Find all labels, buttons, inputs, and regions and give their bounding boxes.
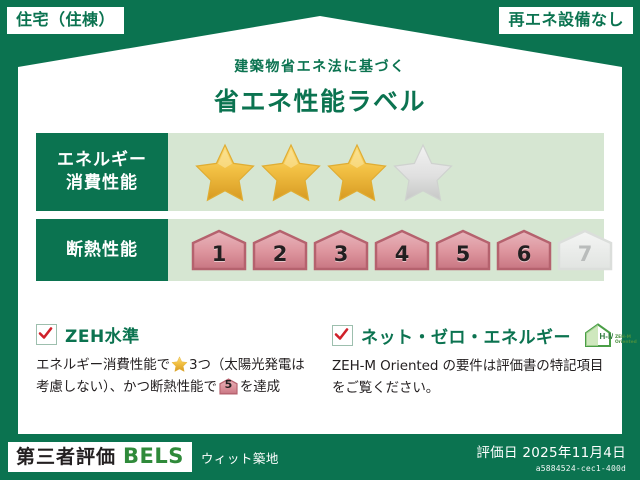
- note-header: ネット・ゼロ・エネルギー H-M ZEH-M Oriented: [332, 322, 604, 348]
- star-icon-filled-3: [326, 142, 388, 202]
- note-text-part1: エネルギー消費性能で: [36, 357, 170, 373]
- evaluation-date-value: 2025年11月4日: [522, 445, 626, 461]
- grade-badge-7: 7: [556, 228, 614, 272]
- energy-performance-row: エネルギー 消費性能: [36, 133, 604, 211]
- check-icon: [334, 327, 349, 342]
- page-title: 省エネ性能ラベル: [0, 82, 640, 118]
- grade-number: 7: [578, 242, 593, 272]
- note-body: エネルギー消費性能で3つ（太陽光発電は考慮しない）、かつ断熱性能で5を達成: [36, 355, 308, 399]
- third-party-eval-label: 第三者評価: [16, 448, 116, 467]
- zeh-logo-subtext: ZEH-M Oriented: [615, 335, 637, 348]
- grade-number: 5: [219, 376, 238, 394]
- grade-number: 4: [395, 242, 410, 272]
- note-body: ZEH-M Oriented の要件は評価書の特記項目をご覧ください。: [332, 356, 604, 400]
- note-title: ネット・ゼロ・エネルギー: [361, 323, 571, 348]
- energy-label-line2: 消費性能: [66, 172, 138, 195]
- builder-name: ウィット築地: [201, 448, 279, 467]
- evaluation-date-line: 評価日 2025年11月4日: [476, 441, 626, 461]
- energy-performance-label-box: エネルギー 消費性能: [36, 133, 168, 211]
- insulation-performance-label-box: 断熱性能: [36, 219, 168, 281]
- evaluation-date-label: 評価日: [476, 445, 517, 461]
- insulation-performance-row: 断熱性能 1: [36, 219, 604, 281]
- grade-number: 6: [517, 242, 532, 272]
- label-subtitle: 建築物省エネ法に基づく: [0, 56, 640, 76]
- checkbox-checked-icon: [332, 325, 353, 346]
- note-header: ZEH水準: [36, 322, 308, 347]
- building-type-tag: 住宅（住棟）: [7, 7, 124, 34]
- grade-number: 1: [212, 242, 227, 272]
- bels-badge: 第三者評価 BELS: [8, 442, 192, 472]
- grade-number: 5: [456, 242, 471, 272]
- energy-performance-label: 住宅（住棟） 再エネ設備なし 建築物省エネ法に基づく 省エネ性能ラベル エネルギ…: [0, 0, 640, 480]
- grade-badge-6: 6: [495, 228, 553, 272]
- note-zeh-standard: ZEH水準 エネルギー消費性能で3つ（太陽光発電は考慮しない）、かつ断熱性能で5…: [36, 322, 308, 400]
- star-rating: [194, 142, 454, 202]
- star-icon-empty-4: [392, 142, 454, 202]
- insulation-grade-scale: 1 2 3: [190, 228, 614, 272]
- note-text-part3: を達成: [240, 379, 280, 395]
- energy-performance-value: [168, 133, 604, 211]
- footer-bar: 第三者評価 BELS ウィット築地 評価日 2025年11月4日 a588452…: [0, 434, 640, 480]
- insulation-performance-value: 1 2 3: [168, 219, 614, 281]
- evaluation-id: a5884524-cec1-400d: [476, 464, 626, 473]
- grade-badge-3: 3: [312, 228, 370, 272]
- note-title: ZEH水準: [65, 322, 140, 347]
- star-icon-inline: [171, 356, 188, 372]
- evaluation-info: 評価日 2025年11月4日 a5884524-cec1-400d: [476, 441, 626, 473]
- grade-badge-1: 1: [190, 228, 248, 272]
- grade-badge-inline: 5: [219, 378, 238, 395]
- grade-badge-2: 2: [251, 228, 309, 272]
- checkbox-checked-icon: [36, 324, 57, 345]
- grade-number: 3: [334, 242, 349, 272]
- grade-number: 2: [273, 242, 288, 272]
- energy-label-line1: エネルギー: [57, 149, 147, 172]
- bels-logo-text: BELS: [123, 446, 184, 467]
- star-icon-filled-2: [260, 142, 322, 202]
- star-icon-filled-1: [194, 142, 256, 202]
- zeh-logo-sub-line2: Oriented: [615, 340, 637, 345]
- grade-badge-4: 4: [373, 228, 431, 272]
- notes-section: ZEH水準 エネルギー消費性能で3つ（太陽光発電は考慮しない）、かつ断熱性能で5…: [36, 322, 604, 400]
- title-block: 建築物省エネ法に基づく 省エネ性能ラベル: [0, 56, 640, 118]
- grade-badge-5: 5: [434, 228, 492, 272]
- insulation-label: 断熱性能: [66, 239, 138, 262]
- zeh-logo-text: H-M: [600, 332, 614, 341]
- zeh-m-oriented-logo: H-M ZEH-M Oriented: [583, 322, 637, 348]
- zeh-house-icon: H-M: [583, 322, 613, 348]
- performance-rows: エネルギー 消費性能: [36, 133, 604, 289]
- note-net-zero-energy: ネット・ゼロ・エネルギー H-M ZEH-M Oriented ZEH-M Or…: [332, 322, 604, 400]
- renewable-equipment-tag: 再エネ設備なし: [499, 7, 633, 34]
- check-icon: [38, 326, 53, 341]
